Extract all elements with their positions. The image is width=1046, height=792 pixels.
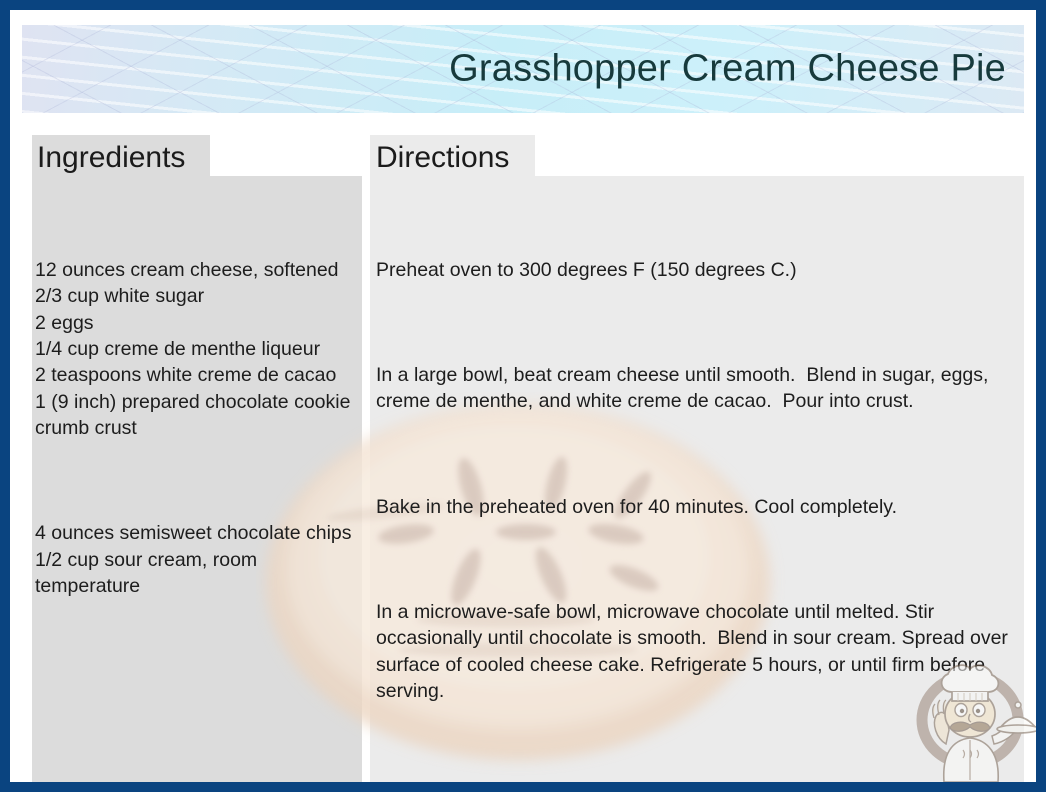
title-banner: Grasshopper Cream Cheese Pie	[22, 25, 1024, 113]
ingredients-heading: Ingredients	[37, 141, 185, 175]
recipe-card: Grasshopper Cream Cheese Pie	[0, 0, 1046, 792]
direction-step: Bake in the preheated oven for 40 minute…	[376, 494, 1016, 520]
directions-heading: Directions	[376, 141, 509, 175]
ingredients-group: 12 ounces cream cheese, softened 2/3 cup…	[35, 257, 357, 442]
directions-list: Preheat oven to 300 degrees F (150 degre…	[376, 204, 1016, 757]
ingredients-list: 12 ounces cream cheese, softened 2/3 cup…	[35, 204, 357, 653]
direction-step: In a large bowl, beat cream cheese until…	[376, 362, 1016, 415]
ingredients-group: 4 ounces semisweet chocolate chips 1/2 c…	[35, 520, 357, 599]
direction-step: Preheat oven to 300 degrees F (150 degre…	[376, 257, 1016, 283]
page-title: Grasshopper Cream Cheese Pie	[449, 48, 1006, 91]
direction-step: In a microwave-safe bowl, microwave choc…	[376, 599, 1016, 705]
